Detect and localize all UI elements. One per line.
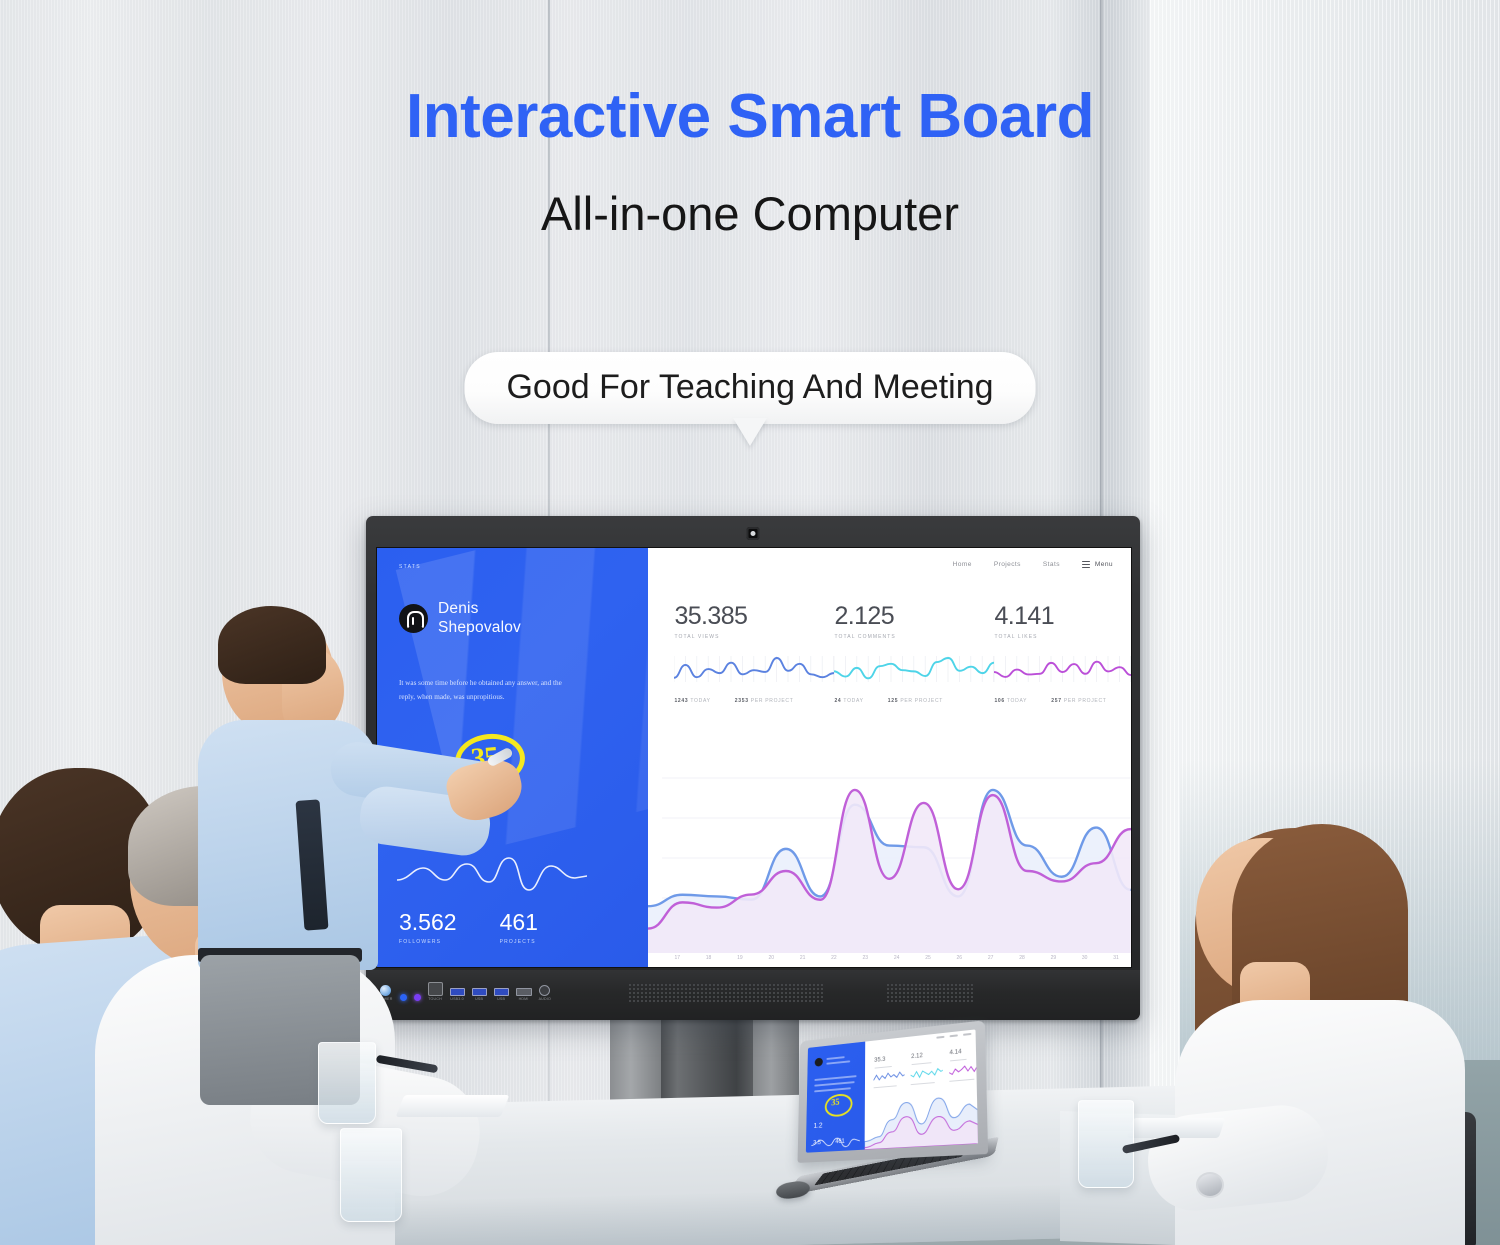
kpi-footer: 106 TODAY 257 PER PROJECT [994, 698, 1132, 704]
touch-port[interactable]: TOUCH [428, 982, 443, 1001]
laptop-dashboard-mirror: 35 1.2 3.5 461 35.3 2.12 4.14 [806, 1029, 978, 1152]
kpi-perproject-label: PER PROJECT [900, 698, 943, 704]
laptop-sparkline-3 [949, 1062, 978, 1076]
sidebar-footer-stats: 3.562 FOLLOWERS 461 PROJECTS [399, 911, 538, 945]
tagline-bubble-tail [733, 418, 767, 446]
sidebar-wave-chart [397, 850, 587, 894]
laptop-kpi-2: 2.12 [911, 1053, 923, 1060]
x-tick-label: 27 [988, 955, 994, 961]
laptop-kpi-1: 35.3 [874, 1057, 885, 1064]
papers-on-table [396, 1095, 510, 1117]
footer-stat-label: FOLLOWERS [399, 939, 457, 945]
x-tick-label: 22 [831, 955, 837, 961]
kpi-card-total-views: 35.385 TOTAL VIEWS 1243 TODAY 2353 PER P… [674, 604, 834, 704]
tagline-text: Good For Teaching And Meeting [506, 368, 993, 406]
x-tick-label: 20 [768, 955, 774, 961]
kpi-card-total-likes: 4.141 TOTAL LIKES 106 TODAY 257 PER PROJ… [994, 604, 1132, 704]
kpi-perproject-value: 2353 [735, 698, 749, 704]
wristwatch [1196, 1172, 1224, 1198]
kpi-card-total-comments: 2.125 TOTAL COMMENTS 24 TODAY 125 PER PR… [834, 604, 994, 704]
avatar [399, 604, 428, 633]
tagline-bubble: Good For Teaching And Meeting [464, 352, 1035, 424]
kpi-value: 35.385 [674, 604, 834, 629]
page-headline: Interactive Smart Board [0, 86, 1500, 148]
kpi-caption: TOTAL LIKES [994, 634, 1132, 640]
kpi-today-label: TODAY [843, 698, 863, 704]
x-tick-label: 28 [1019, 955, 1025, 961]
water-glass-2 [340, 1128, 402, 1222]
kpi-caption: TOTAL COMMENTS [834, 634, 994, 640]
laptop-area-chart [864, 1089, 978, 1150]
laptop-nav [936, 1033, 971, 1038]
water-glass-1 [318, 1042, 376, 1124]
footer-stat-projects: 461 PROJECTS [500, 911, 538, 945]
profile-name-line1: Denis [438, 600, 521, 619]
usb-port-3[interactable]: USB [494, 988, 509, 1001]
footer-stat-value: 461 [500, 911, 538, 934]
laptop-sparkline-2 [910, 1066, 942, 1080]
hdmi-port[interactable]: HDMI [516, 988, 532, 1001]
kpi-value: 4.141 [994, 604, 1132, 629]
kpi-today-label: TODAY [1007, 698, 1027, 704]
laptop-dashboard-main: 35.3 2.12 4.14 [864, 1029, 978, 1149]
audio-port[interactable]: AUDIO [539, 985, 551, 1001]
usb-port-2[interactable]: USB [472, 988, 487, 1001]
nav-item-projects[interactable]: Projects [994, 561, 1021, 568]
x-tick-label: 19 [737, 955, 743, 961]
profile-name: Denis Shepovalov [438, 600, 521, 638]
x-tick-label: 18 [706, 955, 712, 961]
kpi-sparkline [994, 652, 1132, 686]
x-tick-label: 21 [800, 955, 806, 961]
profile-block: Denis Shepovalov [399, 600, 521, 638]
page-subheadline: All-in-one Computer [0, 190, 1500, 237]
laptop-footer-stat-2: 461 [835, 1139, 844, 1145]
led-indicator [400, 994, 407, 1001]
nav-item-menu-label: Menu [1095, 561, 1113, 568]
laptop[interactable]: 35 1.2 3.5 461 35.3 2.12 4.14 [786, 1030, 996, 1190]
laptop-dashboard-sidebar: 35 1.2 3.5 461 [806, 1042, 865, 1153]
speaker-grille-left [628, 983, 824, 1003]
board-bottom-bezel: POWER TOUCH USB3.0 USB USB HDMI AUDIO [366, 970, 1140, 1020]
camera-icon [747, 527, 760, 540]
kpi-perproject-value: 257 [1051, 698, 1061, 704]
sidebar-section-label: STATS [399, 564, 421, 570]
kpi-row: 35.385 TOTAL VIEWS 1243 TODAY 2353 PER P… [674, 604, 1111, 704]
usb-port-1[interactable]: USB3.0 [450, 988, 465, 1001]
kpi-footer: 1243 TODAY 2353 PER PROJECT [674, 698, 834, 704]
dashboard-nav[interactable]: Home Projects Stats Menu [953, 561, 1113, 568]
x-tick-label: 17 [674, 955, 680, 961]
kpi-today-value: 1243 [674, 698, 688, 704]
laptop-screen[interactable]: 35 1.2 3.5 461 35.3 2.12 4.14 [806, 1029, 978, 1152]
water-glass-3 [1078, 1100, 1134, 1188]
main-area-chart: 171819202122232425262728293031 [648, 758, 1131, 967]
x-tick-label: 24 [894, 955, 900, 961]
laptop-avatar [815, 1058, 823, 1067]
laptop-footer-stat-1: 3.5 [813, 1140, 821, 1146]
nav-item-home[interactable]: Home [953, 561, 972, 568]
nav-item-stats[interactable]: Stats [1043, 561, 1060, 568]
x-tick-label: 26 [957, 955, 963, 961]
kpi-perproject-label: PER PROJECT [751, 698, 794, 704]
kpi-sparkline [674, 652, 834, 686]
laptop-sidebar-highlight: 1.2 [814, 1122, 823, 1129]
chart-x-axis: 171819202122232425262728293031 [674, 955, 1119, 961]
speaker-grille-right [886, 983, 974, 1003]
kpi-caption: TOTAL VIEWS [674, 634, 834, 640]
x-tick-label: 31 [1113, 955, 1119, 961]
laptop-kpi-3: 4.14 [949, 1049, 961, 1056]
kpi-today-value: 24 [834, 698, 841, 704]
profile-quote: It was some time before he obtained any … [399, 676, 564, 705]
footer-stat-followers: 3.562 FOLLOWERS [399, 911, 457, 945]
laptop-lid: 35 1.2 3.5 461 35.3 2.12 4.14 [798, 1020, 989, 1163]
hamburger-icon [1082, 561, 1090, 568]
footer-stat-label: PROJECTS [500, 939, 538, 945]
x-tick-label: 25 [925, 955, 931, 961]
kpi-today-value: 106 [994, 698, 1004, 704]
x-tick-label: 30 [1082, 955, 1088, 961]
kpi-sparkline [834, 652, 994, 686]
headline-text: Interactive Smart Board [406, 82, 1094, 151]
kpi-perproject-value: 125 [888, 698, 898, 704]
led-indicator-2 [414, 994, 421, 1001]
area-chart-svg [648, 758, 1131, 967]
kpi-today-label: TODAY [690, 698, 710, 704]
person-standing-presenter-hair [218, 606, 326, 684]
nav-item-menu[interactable]: Menu [1082, 561, 1113, 568]
x-tick-label: 23 [863, 955, 869, 961]
profile-name-line2: Shepovalov [438, 619, 521, 638]
kpi-perproject-label: PER PROJECT [1064, 698, 1107, 704]
dashboard-main: Home Projects Stats Menu 35.385 TOTAL VI… [648, 548, 1131, 967]
kpi-value: 2.125 [834, 604, 994, 629]
footer-stat-value: 3.562 [399, 911, 457, 934]
laptop-sparkline-1 [873, 1070, 904, 1084]
x-tick-label: 29 [1051, 955, 1057, 961]
screenshot-root: Interactive Smart Board All-in-one Compu… [0, 0, 1500, 1245]
kpi-footer: 24 TODAY 125 PER PROJECT [834, 698, 994, 704]
laptop-annotation-value: 35 [831, 1097, 839, 1107]
port-strip[interactable]: POWER TOUCH USB3.0 USB USB HDMI AUDIO [378, 982, 551, 1001]
